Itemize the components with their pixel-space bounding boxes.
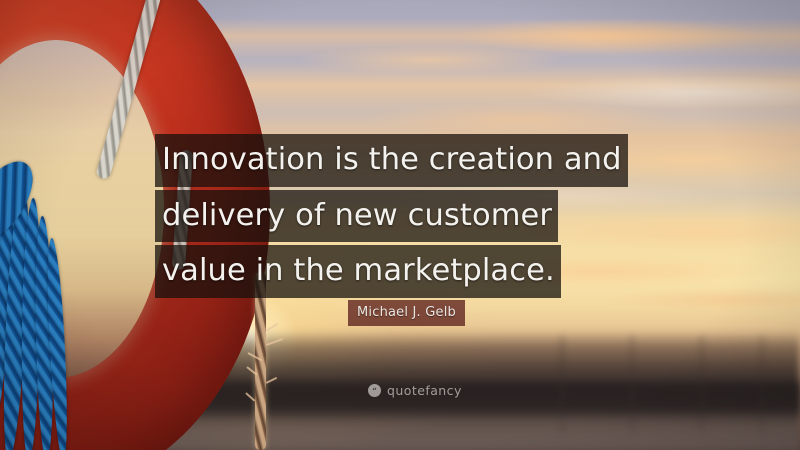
quote-image-canvas: Innovation is the creation and delivery … [0, 0, 800, 450]
quote-line-3: value in the marketplace. [155, 245, 561, 298]
author-attribution: Michael J. Gelb [348, 300, 465, 326]
watermark-brand-label: quotefancy [387, 383, 462, 398]
quote-mark-logo-icon: “ [368, 384, 381, 397]
quote-line-1: Innovation is the creation and [155, 134, 628, 187]
quotefancy-watermark: “ quotefancy [368, 383, 462, 398]
author-name: Michael J. Gelb [348, 300, 465, 326]
quote-text-block: Innovation is the creation and delivery … [155, 134, 655, 301]
blue-coiled-rope [0, 172, 124, 450]
quote-line-2: delivery of new customer [155, 190, 558, 243]
quote-line-wrapper: value in the marketplace. [155, 245, 655, 298]
quote-line-wrapper: delivery of new customer [155, 190, 655, 243]
quote-line-wrapper: Innovation is the creation and [155, 134, 655, 187]
